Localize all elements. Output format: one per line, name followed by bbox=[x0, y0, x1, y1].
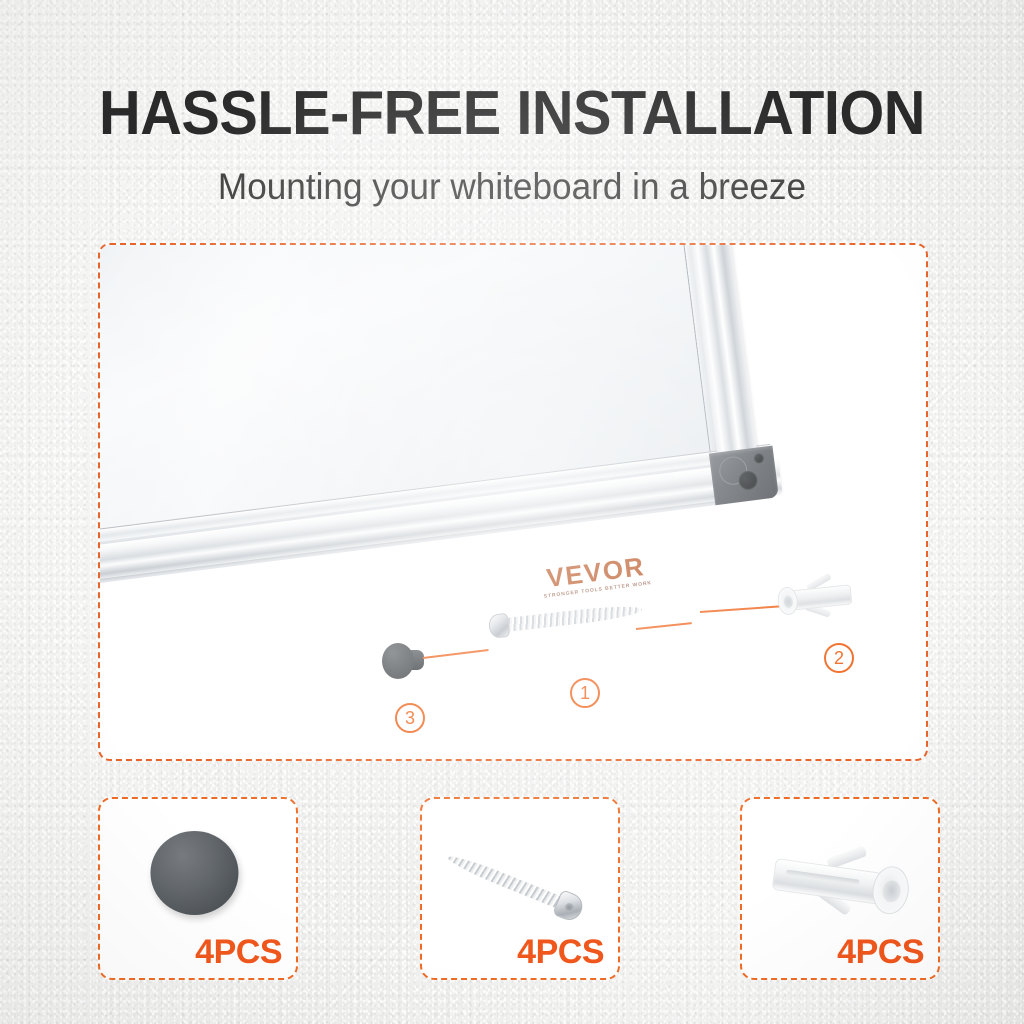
parts-card-wall-anchor: 4PCS bbox=[740, 797, 940, 980]
whiteboard-illustration bbox=[98, 243, 847, 632]
page-subtitle: Mounting your whiteboard in a breeze bbox=[26, 166, 999, 208]
corner-bracket bbox=[709, 446, 779, 506]
callout-3: 3 bbox=[395, 703, 425, 733]
screw-image bbox=[422, 817, 618, 927]
infographic-stage: HASSLE-FREE INSTALLATION Mounting your w… bbox=[0, 0, 1024, 1024]
bracket-hole-small-icon bbox=[753, 453, 764, 464]
screw-icon bbox=[443, 844, 593, 926]
wall-anchor-icon bbox=[763, 839, 923, 926]
callout-1: 1 bbox=[570, 678, 600, 708]
page-title: HASSLE-FREE INSTALLATION bbox=[36, 78, 988, 149]
wall-anchor-image bbox=[742, 817, 938, 927]
parts-card-cover-cap: 4PCS bbox=[98, 797, 298, 980]
wall-anchor-body bbox=[791, 584, 853, 610]
bracket-mounting-hole-icon bbox=[737, 470, 758, 491]
cover-cap-part bbox=[382, 641, 428, 681]
cover-cap-image bbox=[100, 817, 296, 927]
cover-cap-disc-icon bbox=[150, 831, 238, 915]
installation-diagram-panel bbox=[98, 243, 928, 761]
wall-anchor-quantity: 4PCS bbox=[837, 933, 924, 972]
screw-icon-shaft bbox=[445, 851, 563, 909]
screw-quantity: 4PCS bbox=[517, 933, 604, 972]
parts-card-screw: 4PCS bbox=[420, 797, 620, 980]
screw-head bbox=[488, 613, 511, 639]
callout-2: 2 bbox=[824, 643, 854, 673]
cover-cap-head bbox=[382, 643, 414, 679]
cover-cap-quantity: 4PCS bbox=[195, 933, 282, 972]
